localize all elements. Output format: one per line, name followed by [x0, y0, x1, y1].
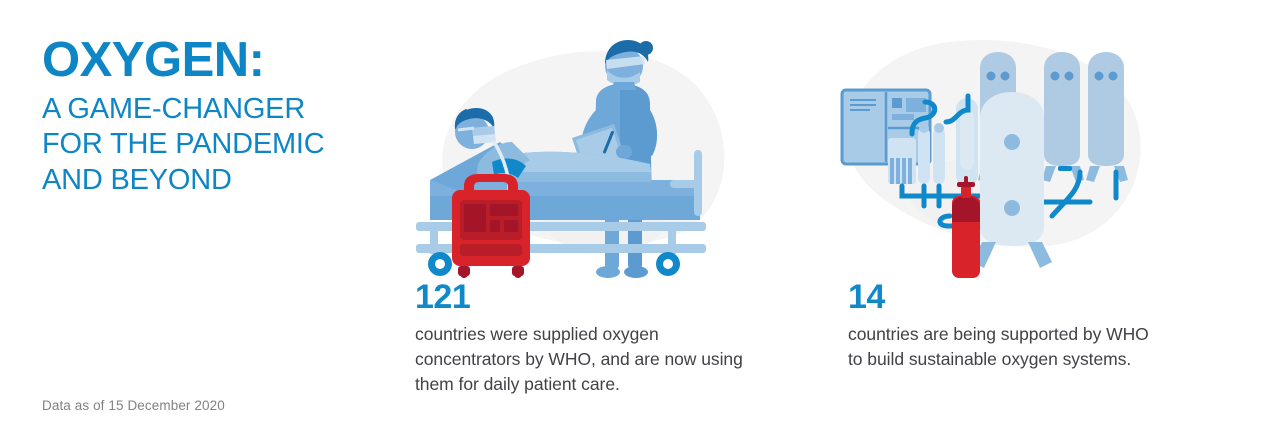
stat-number-14: 14 — [830, 280, 1160, 314]
page-title: OXYGEN: — [42, 36, 382, 86]
subtitle-line-1: A GAME-CHANGER — [42, 93, 305, 125]
stat-description-concentrators: countries were supplied oxygen concentra… — [400, 322, 765, 397]
control-panel-cabinet — [842, 90, 930, 164]
subtitle-line-3: AND BEYOND — [42, 164, 232, 196]
stat-number-121: 121 — [400, 280, 760, 314]
stat-panel-oxygen-systems: 14 countries are being supported by WHO … — [830, 30, 1160, 372]
stat-panel-concentrators: 121 countries were supplied oxygen conce… — [400, 30, 760, 397]
stat-description-oxygen-systems: countries are being supported by WHO to … — [830, 322, 1153, 372]
headline-block: OXYGEN: A GAME-CHANGER FOR THE PANDEMIC … — [42, 36, 382, 198]
subtitle-line-2: FOR THE PANDEMIC — [42, 128, 325, 160]
oxygen-plant-tanks-illustration — [830, 30, 1160, 280]
page-subtitle: A GAME-CHANGER FOR THE PANDEMIC AND BEYO… — [42, 92, 382, 198]
patient-bed-oxygen-concentrator-illustration — [400, 30, 760, 280]
data-date-footnote: Data as of 15 December 2020 — [42, 398, 225, 413]
